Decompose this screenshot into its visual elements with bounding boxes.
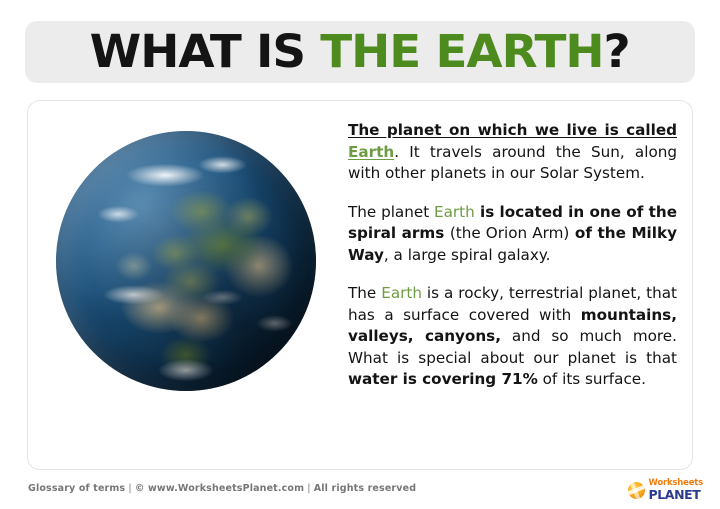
footer-glossary-label[interactable]: Glossary of terms [28,483,125,494]
paragraph-3: The Earth is a rocky, terrestrial planet… [348,283,677,391]
logo-bottom-word: PLANET [648,489,703,502]
title-question-mark: ? [604,25,630,78]
text-run-p3-1: Earth [381,284,422,302]
paragraph-2: The planet Earth is located in one of th… [348,202,677,267]
text-run-p3-0: The [348,284,381,302]
title-part-green: THE EARTH [321,25,604,78]
paragraph-1: The planet on which we live is called Ea… [348,120,677,185]
worksheets-planet-logo[interactable]: Worksheets PLANET [628,479,703,501]
footer-credit-line: Glossary of terms|© www.WorksheetsPlanet… [28,483,416,494]
page-footer: Glossary of terms|© www.WorksheetsPlanet… [0,478,720,509]
footer-separator-1: | [125,483,135,494]
definition-text-pane: The planet on which we live is called Ea… [338,101,692,391]
text-run-p1-0: The planet on which we live is called [348,121,677,139]
text-run-p3-6: of its surface. [538,370,646,388]
text-run-p3-5: water is covering 71% [348,370,538,388]
earth-globe-image [56,131,316,391]
text-run-p2-1: Earth [434,203,475,221]
text-run-p2-0: The planet [348,203,434,221]
planet-icon [628,482,645,499]
text-run-p2-3: (the Orion Arm) [450,224,570,242]
text-run-p1-1: Earth [348,143,394,161]
earth-shading [56,131,316,391]
earth-illustration-pane [28,101,338,469]
title-banner: WHAT IS THE EARTH? [25,21,695,83]
worksheet-page: WHAT IS THE EARTH? The planet on which w… [0,0,720,509]
text-run-p2-5: , a large spiral galaxy. [384,246,551,264]
footer-rights-label: All rights reserved [314,483,416,494]
footer-site-url[interactable]: www.WorksheetsPlanet.com [148,483,304,494]
page-title: WHAT IS THE EARTH? [90,29,630,75]
copyright-icon: © [135,483,145,494]
title-part-black: WHAT IS [90,25,321,78]
text-run-p1-2: . It travels around the Sun, along with … [348,143,677,183]
footer-separator-2: | [304,483,314,494]
content-card: The planet on which we live is called Ea… [27,100,693,470]
logo-wordmark: Worksheets PLANET [648,479,703,501]
